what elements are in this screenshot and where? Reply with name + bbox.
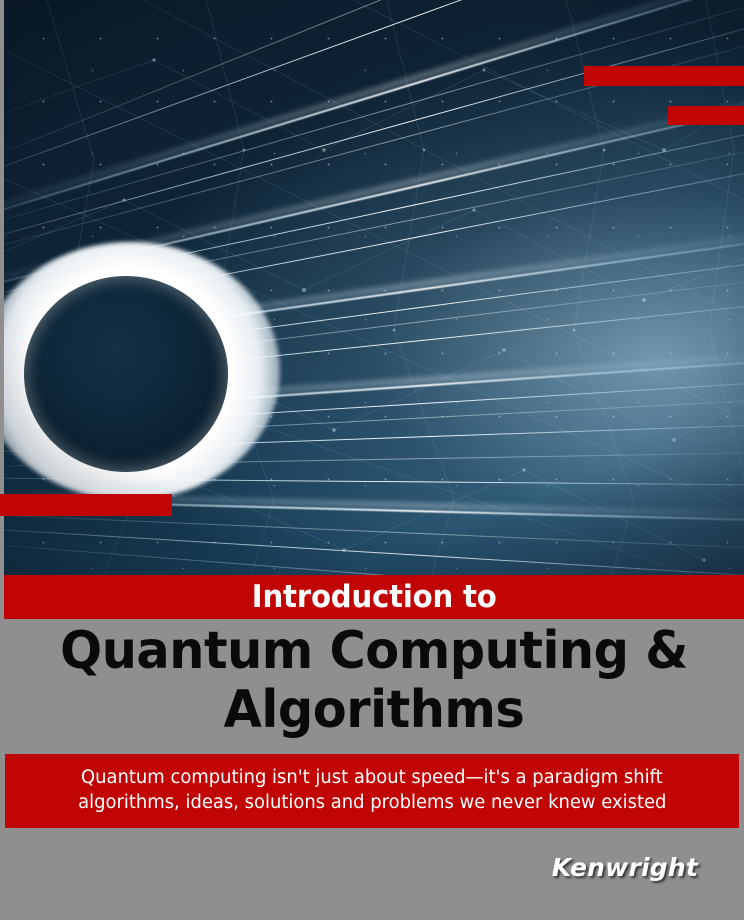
subtitle-line-2: algorithms, ideas, solutions and problem… <box>78 791 666 816</box>
title-line-1: Quantum Computing & <box>23 622 726 681</box>
title-line-2: Algorithms <box>23 681 726 740</box>
kicker-text: Introduction to <box>252 582 497 613</box>
subtitle-box: Quantum computing isn't just about speed… <box>5 754 739 828</box>
accent-bar-top-upper <box>584 66 744 86</box>
page-title: Quantum Computing & Algorithms <box>4 622 744 741</box>
kicker-band: Introduction to <box>4 575 744 619</box>
accent-bar-top-lower <box>668 106 744 125</box>
cover-artwork <box>4 0 744 576</box>
eclipse-dark-core <box>24 276 228 472</box>
accent-bar-left <box>0 494 172 516</box>
book-cover: Introduction to Quantum Computing & Algo… <box>0 0 744 920</box>
author-name: Kenwright <box>552 853 698 882</box>
subtitle-line-1: Quantum computing isn't just about speed… <box>81 766 663 791</box>
